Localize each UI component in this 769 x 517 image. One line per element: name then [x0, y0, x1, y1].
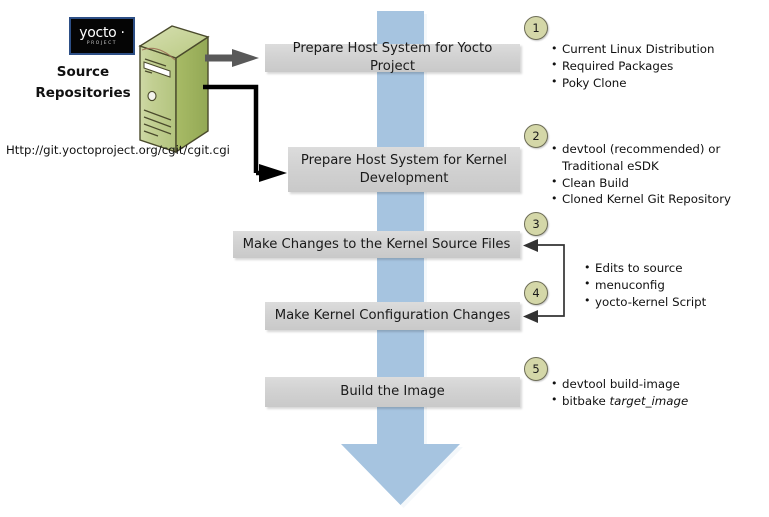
connector-server-to-step1 — [205, 49, 259, 67]
process-box-step-3[interactable]: Make Changes to the Kernel Source Files — [233, 231, 520, 258]
main-flow-arrow — [341, 11, 463, 508]
step-circle-1: 1 — [524, 16, 548, 40]
connector-server-to-step2 — [203, 87, 287, 182]
bullet-item-continuation: Traditional eSDK — [551, 158, 731, 175]
bullet-item: Poky Clone — [551, 75, 714, 92]
source-repository-url: Http://git.yoctoproject.org/cgit/cgit.cg… — [6, 143, 230, 157]
yocto-project-logo: yocto · PROJECT — [69, 17, 135, 55]
bullet-item: Current Linux Distribution — [551, 41, 714, 58]
bullet-list-step-1: Current Linux Distribution Required Pack… — [551, 41, 714, 91]
connector-steps34-bracket — [523, 239, 564, 323]
step-circle-4: 4 — [524, 281, 548, 305]
process-box-step-5[interactable]: Build the Image — [265, 377, 520, 407]
step-circle-5: 5 — [524, 357, 548, 381]
step-circle-2: 2 — [524, 124, 548, 148]
bullet-list-step-5: devtool build-image bitbake target_image — [551, 376, 688, 410]
server-tower-icon — [140, 26, 208, 152]
bullet-item: devtool build-image — [551, 376, 688, 393]
bullet-item: yocto-kernel Script — [584, 294, 706, 311]
bullet-item: Edits to source — [584, 260, 706, 277]
bitbake-command: bitbake — [562, 394, 610, 408]
process-box-step-4[interactable]: Make Kernel Configuration Changes — [265, 302, 520, 330]
step-circle-3: 3 — [524, 212, 548, 236]
bullet-list-step-2: devtool (recommended) or Traditional eSD… — [551, 141, 731, 208]
source-repositories-label: Source Repositories — [18, 62, 148, 104]
bullet-item: Clean Build — [551, 175, 731, 192]
bullet-list-steps-3-4: Edits to source menuconfig yocto-kernel … — [584, 260, 706, 310]
bullet-item: Cloned Kernel Git Repository — [551, 191, 731, 208]
bullet-item-bitbake: bitbake target_image — [551, 393, 688, 410]
yocto-logo-word: yocto · — [79, 26, 124, 40]
process-box-step-2[interactable]: Prepare Host System for Kernel Developme… — [288, 147, 520, 192]
source-label-line1: Source — [18, 62, 148, 83]
source-label-line2: Repositories — [18, 83, 148, 104]
bullet-item: Required Packages — [551, 58, 714, 75]
bitbake-target-argument: target_image — [610, 394, 689, 408]
bullet-item: menuconfig — [584, 277, 706, 294]
process-box-step-1[interactable]: Prepare Host System for Yocto Project — [265, 44, 520, 72]
diagram-canvas: yocto · PROJECT Source Repositories Http… — [0, 0, 769, 517]
bullet-item: devtool (recommended) or — [551, 141, 731, 158]
yocto-logo-subtitle: PROJECT — [87, 42, 117, 46]
